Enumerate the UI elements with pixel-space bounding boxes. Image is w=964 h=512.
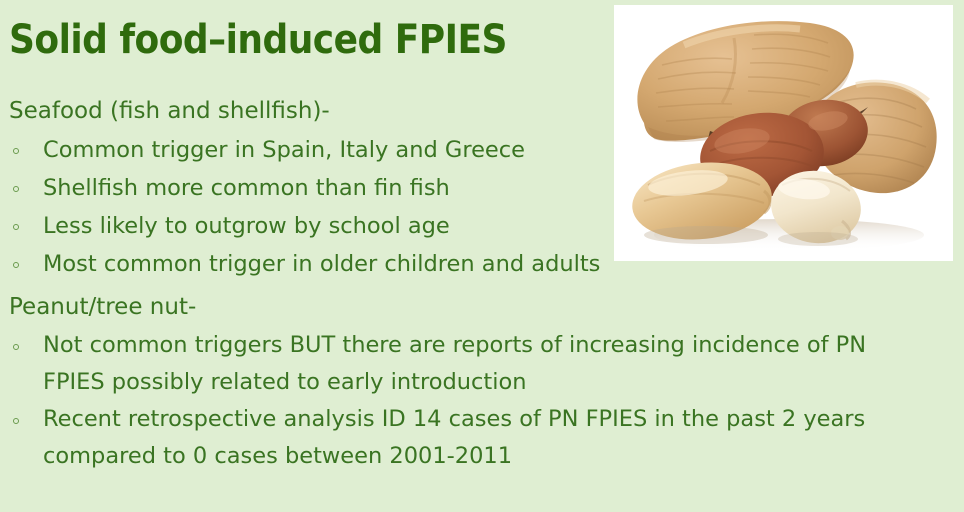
page-title: Solid food–induced FPIES: [9, 14, 507, 66]
peanuts-photo: [614, 5, 953, 261]
open-circle-bullet-icon: [13, 131, 22, 169]
bullet-list-peanut-tree-nut: Not common triggers BUT there are report…: [0, 327, 930, 475]
list-item-label: Recent retrospective analysis ID 14 case…: [43, 401, 930, 475]
open-circle-bullet-icon: [13, 207, 22, 245]
list-item-label: Not common triggers BUT there are report…: [43, 327, 930, 401]
list-item: Recent retrospective analysis ID 14 case…: [0, 401, 930, 475]
open-circle-bullet-icon: [13, 327, 22, 365]
section-heading-peanut-tree-nut: Peanut/tree nut-: [0, 288, 930, 327]
open-circle-bullet-icon: [13, 169, 22, 207]
slide-canvas: Solid food–induced FPIES Seafood (fish a…: [0, 0, 964, 512]
list-item: Not common triggers BUT there are report…: [0, 327, 930, 401]
peanuts-illustration: [614, 5, 953, 261]
open-circle-bullet-icon: [13, 245, 22, 283]
open-circle-bullet-icon: [13, 401, 22, 439]
